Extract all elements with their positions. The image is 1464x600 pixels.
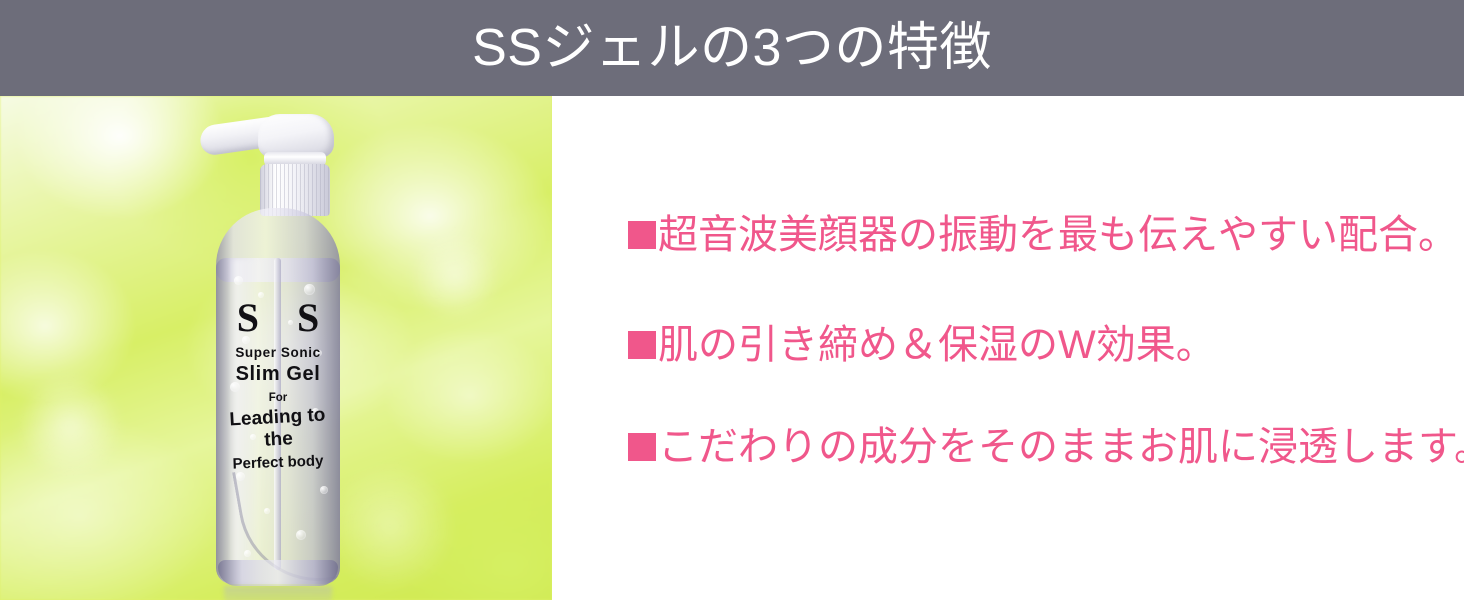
feature-item-2-text: 肌の引き締め＆保湿のW効果。 (658, 324, 1216, 366)
square-bullet-icon (628, 221, 656, 249)
feature-item-3-text: こだわりの成分をそのままお肌に浸透します。 (658, 426, 1464, 468)
label-for: For (216, 392, 340, 404)
bottle-reflection (224, 586, 332, 600)
gel-bubble (264, 508, 270, 514)
product-feature-banner: SSジェルの3つの特徴 (0, 0, 1464, 600)
label-brand-initials: S S (216, 298, 340, 338)
feature-list: 超音波美顔器の振動を最も伝えやすい配合。 肌の引き締め＆保湿のW効果。 こだわり… (628, 96, 1428, 600)
gel-bubble (234, 276, 243, 285)
gel-bubble (320, 486, 328, 494)
square-bullet-icon (628, 433, 656, 461)
square-bullet-icon (628, 331, 656, 359)
gel-bubble (304, 284, 315, 295)
gel-bubble (244, 550, 251, 557)
label-leading-to-the: Leading to the (215, 404, 341, 454)
feature-item-1: 超音波美顔器の振動を最も伝えやすい配合。 (628, 214, 1458, 256)
gel-bubble (296, 530, 306, 540)
feature-item-3: こだわりの成分をそのままお肌に浸透します。 (628, 426, 1464, 468)
label-slim-gel: Slim Gel (216, 363, 340, 386)
product-image-panel: S S Super Sonic Slim Gel For Leading to … (0, 96, 552, 600)
bottle-base (218, 560, 338, 586)
label-perfect-body: Perfect body (216, 452, 341, 473)
feature-item-2: 肌の引き締め＆保湿のW効果。 (628, 324, 1216, 366)
page-title: SSジェルの3つの特徴 (0, 0, 1464, 96)
label-super-sonic: Super Sonic (216, 345, 340, 360)
feature-item-1-text: 超音波美顔器の振動を最も伝えやすい配合。 (658, 214, 1458, 256)
gel-bubble (236, 472, 245, 481)
product-bottle: S S Super Sonic Slim Gel For Leading to … (212, 108, 344, 600)
bottle-label: S S Super Sonic Slim Gel For Leading to … (216, 298, 340, 471)
